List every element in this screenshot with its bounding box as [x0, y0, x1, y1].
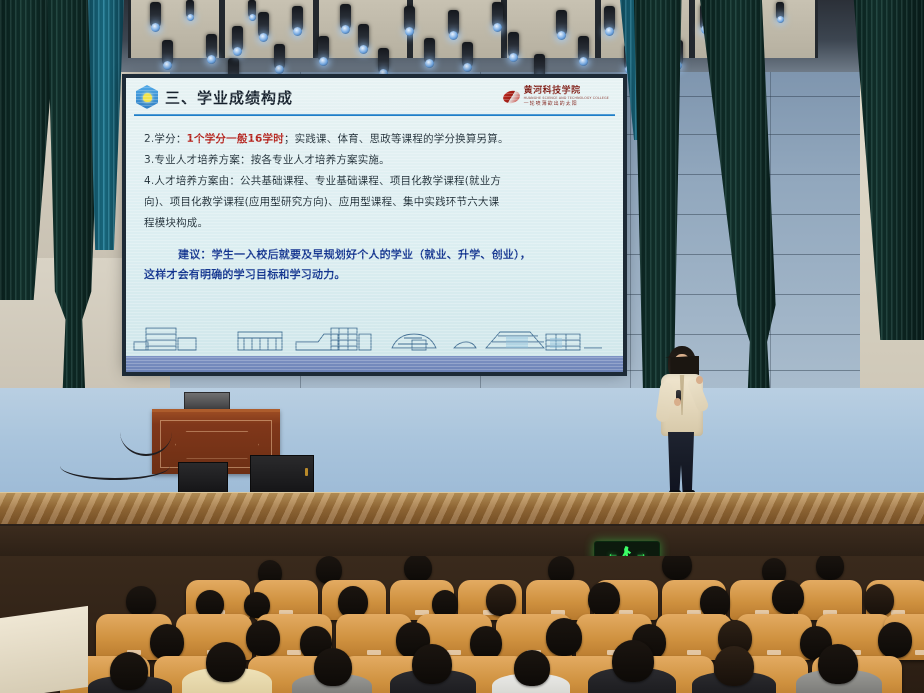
stage-light: [424, 38, 435, 64]
audience-head: [662, 556, 692, 580]
school-name-cn: 黄河科技学院: [524, 87, 609, 96]
audience-head: [878, 622, 912, 658]
advice-line-2: 这样才会有明确的学习目标和学习动力。: [144, 265, 607, 285]
slide-line-3: 3.专业人才培养方案：按各专业人才培养方案实施。: [144, 151, 607, 170]
stage-light: [534, 54, 545, 80]
audience-head: [612, 640, 654, 682]
floor-cable: [60, 452, 170, 480]
line2-prefix: 2.学分：: [144, 133, 187, 145]
stage-light: [318, 36, 329, 62]
stage-apron-edge: [0, 492, 924, 527]
slide-footer-band: [126, 356, 623, 372]
stage-light: [578, 36, 589, 62]
audience-head: [816, 556, 844, 580]
stage-light: [556, 10, 567, 36]
stage-light: [378, 48, 389, 74]
school-logo: 黄河科技学院 HUANGHE SCIENCE AND TECHNOLOGY CO…: [503, 87, 613, 107]
auditorium-lecture-scene: 三、学业成绩构成 黄河科技学院 HUANGHE SCIENCE AND TECH…: [0, 0, 924, 693]
audience-head: [246, 620, 280, 656]
audience-head: [772, 580, 804, 614]
school-slogan: 一轮喷薄欲出的太阳: [524, 102, 609, 107]
stage-light: [150, 2, 161, 28]
audience-head: [818, 644, 858, 684]
auditorium-wainscot: [0, 526, 924, 560]
school-name-en: HUANGHE SCIENCE AND TECHNOLOGY COLLEGE: [524, 97, 609, 100]
audience-seating-area: [0, 556, 924, 693]
stage-light: [508, 32, 519, 58]
lightbulb-hexagon-icon: [136, 85, 158, 109]
audience-head: [110, 652, 148, 690]
stage-light: [292, 6, 303, 32]
audience-head: [150, 624, 184, 660]
stage-light: [604, 6, 615, 32]
stage-light: [232, 26, 243, 52]
stage-light: [448, 10, 459, 36]
line2-highlight: 1个学分一般16学时: [187, 133, 284, 145]
slide-line-2: 2.学分：1个学分一般16学时；实践课、体育、思政等课程的学分换算另算。: [144, 130, 607, 149]
stage-light: [462, 42, 473, 68]
audience-head: [588, 582, 620, 616]
audience-head: [412, 644, 452, 684]
stage-light: [340, 4, 351, 30]
line2-suffix: ；实践课、体育、思政等课程的学分换算另算。: [284, 133, 509, 145]
audience-head: [864, 584, 894, 616]
stage-light: [186, 0, 194, 18]
stage-light: [274, 44, 285, 70]
slide-title: 三、学业成绩构成: [165, 87, 293, 108]
stage-light: [248, 0, 256, 18]
stage-light: [258, 12, 269, 38]
presentation-slide: 三、学业成绩构成 黄河科技学院 HUANGHE SCIENCE AND TECH…: [126, 78, 623, 372]
sunrise-logo-icon: [501, 89, 520, 105]
stage-light: [404, 6, 415, 32]
campus-skyline-illustration: [126, 314, 623, 356]
stage-light: [358, 24, 369, 50]
audience-head: [486, 584, 516, 616]
slide-line-4a: 4.人才培养方案由：公共基础课程、专业基础课程、项目化教学课程(就业方: [144, 172, 607, 191]
audience-head: [714, 646, 754, 686]
stage-light: [776, 2, 784, 20]
audience-head: [514, 650, 550, 686]
stage-light: [162, 40, 173, 66]
audience-head: [470, 626, 502, 660]
audience-head: [126, 586, 156, 616]
aisle-handrail-panel: [0, 606, 88, 693]
slide-body: 2.学分：1个学分一般16学时；实践课、体育、思政等课程的学分换算另算。 3.专…: [126, 116, 623, 285]
floor-cable-2: [120, 408, 172, 456]
audience-head: [404, 556, 432, 582]
audience-head: [206, 642, 246, 682]
stage-light: [206, 34, 217, 60]
presenter: [652, 346, 712, 496]
slide-advice-block: 建议：学生一入校后就要及早规划好个人的学业（就业、升学、创业）， 这样才会有明确…: [144, 245, 607, 285]
advice-line-1: 建议：学生一入校后就要及早规划好个人的学业（就业、升学、创业），: [144, 245, 531, 265]
slide-line-4c: 程模块构成。: [144, 214, 607, 233]
slide-line-4b: 向)、项目化教学课程(应用型研究方向)、应用型课程、集中实践环节六大课: [144, 193, 607, 212]
audience-head: [546, 618, 582, 656]
slide-header: 三、学业成绩构成 黄河科技学院 HUANGHE SCIENCE AND TECH…: [126, 78, 623, 116]
audience-head: [314, 648, 352, 686]
stage-light: [492, 2, 503, 28]
